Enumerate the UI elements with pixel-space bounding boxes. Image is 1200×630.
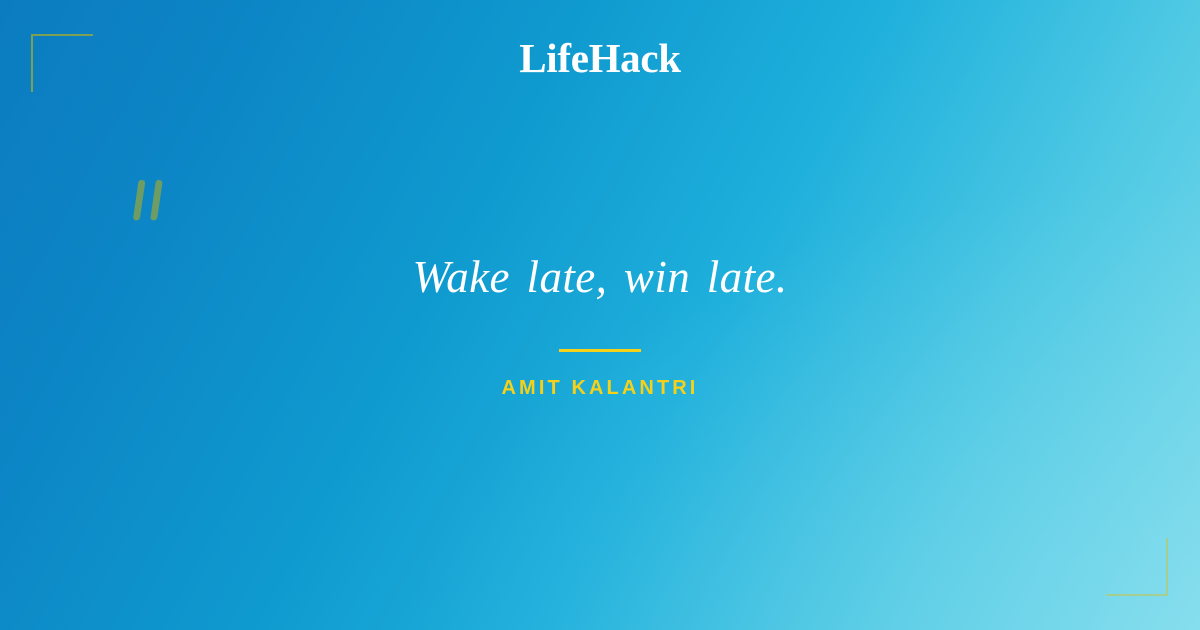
quote-card: LifeHack Wake late, win late. AMIT KALAN… xyxy=(0,0,1200,630)
divider-rule xyxy=(559,349,641,352)
quote-author: AMIT KALANTRI xyxy=(120,378,1080,398)
brand-wordmark: LifeHack xyxy=(519,38,681,79)
quote-block: Wake late, win late. AMIT KALANTRI xyxy=(0,250,1200,398)
brand-logo[interactable]: LifeHack xyxy=(0,38,1200,79)
quote-mark-icon xyxy=(128,176,176,240)
corner-bracket-bottom-right-icon xyxy=(1106,538,1168,596)
quote-text: Wake late, win late. xyxy=(120,250,1080,305)
